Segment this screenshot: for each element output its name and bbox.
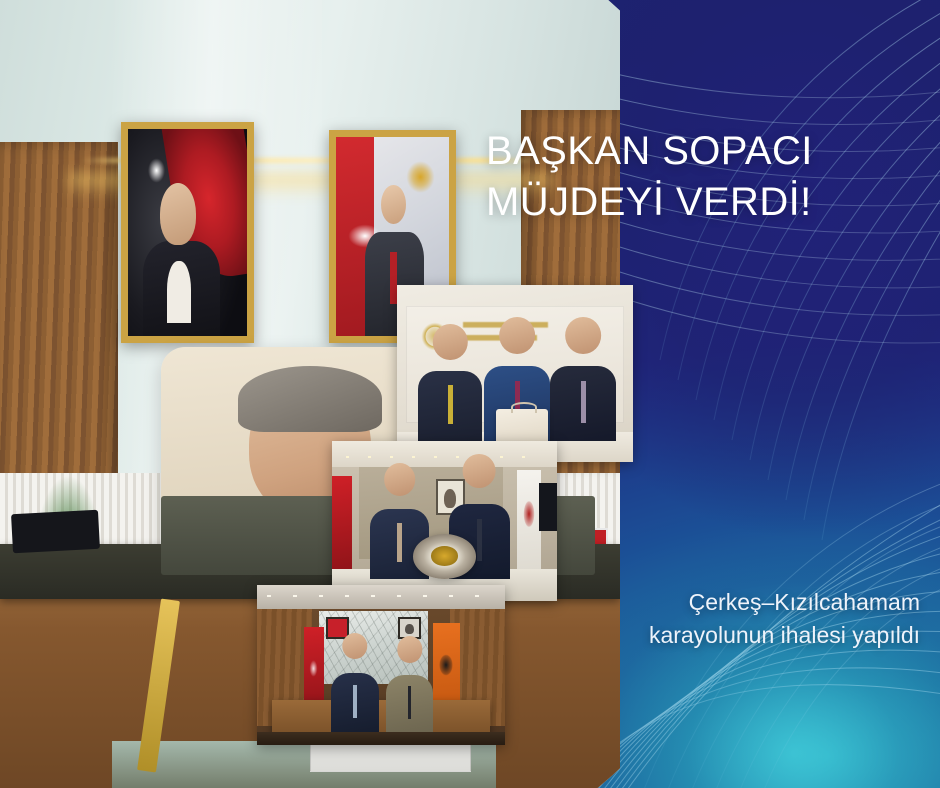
institution-flag (517, 470, 542, 576)
plaque-presentation-photo (332, 441, 557, 601)
headline-line-2: MÜJDEYİ VERDİ! (486, 177, 916, 228)
office-visit-photo (257, 585, 505, 745)
subheadline-line-2: karayolunun ihalesi yapıldı (500, 619, 920, 652)
ministry-meeting-photo (397, 285, 633, 462)
subheadline-line-1: Çerkeş–Kızılcahamam (689, 589, 920, 615)
person-figure (331, 633, 378, 732)
mobile-phone (11, 510, 100, 554)
wall-monitor (539, 483, 557, 531)
commemorative-plaque (413, 534, 476, 579)
person-figure (386, 636, 433, 732)
subheadline: Çerkeş–Kızılcahamam karayolunun ihalesi … (500, 586, 920, 651)
person-figure (418, 324, 482, 441)
ataturk-portrait-frame (121, 122, 254, 343)
headline-line-1: BAŞKAN SOPACI (486, 129, 813, 173)
headline: BAŞKAN SOPACI MÜJDEYİ VERDİ! (486, 126, 916, 228)
turkish-flag (332, 476, 352, 575)
announcement-graphic: BAŞKAN SOPACI MÜJDEYİ VERDİ! Çerkeş–Kızı… (0, 0, 940, 788)
person-figure (550, 317, 616, 441)
